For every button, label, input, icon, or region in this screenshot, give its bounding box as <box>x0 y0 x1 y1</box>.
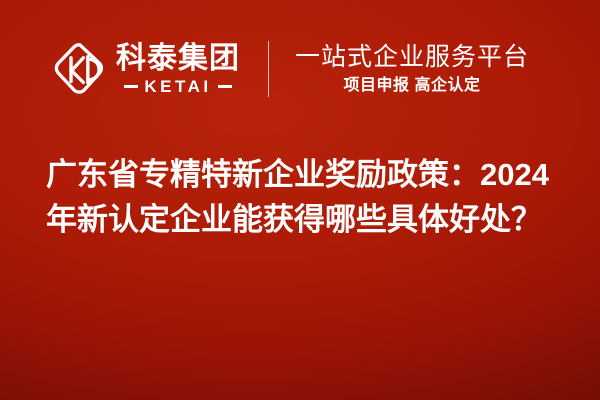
tagline-main: 一站式企业服务平台 <box>295 43 529 71</box>
banner-header: 科泰集团 KETAI 一站式企业服务平台 项目申报 高企认定 <box>0 0 600 130</box>
promo-banner: 科泰集团 KETAI 一站式企业服务平台 项目申报 高企认定 广东省专精特新企业… <box>0 0 600 400</box>
tagline-sub: 项目申报 高企认定 <box>295 76 529 95</box>
dash-left-icon <box>124 85 138 88</box>
page-title: 广东省专精特新企业奖励政策：2024年新认定企业能获得哪些具体好处？ <box>46 152 570 242</box>
dash-right-icon <box>218 85 232 88</box>
vertical-divider <box>268 41 269 97</box>
brand-name-cn: 科泰集团 <box>116 44 240 74</box>
brand-logo[interactable]: 科泰集团 KETAI <box>52 41 240 97</box>
brand-wordmark: 科泰集团 KETAI <box>116 44 240 95</box>
brand-name-en: KETAI <box>138 78 217 95</box>
ketai-diamond-kd-monogram-icon <box>52 41 108 97</box>
brand-name-en-row: KETAI <box>116 78 240 95</box>
tagline-block: 一站式企业服务平台 项目申报 高企认定 <box>295 43 529 95</box>
